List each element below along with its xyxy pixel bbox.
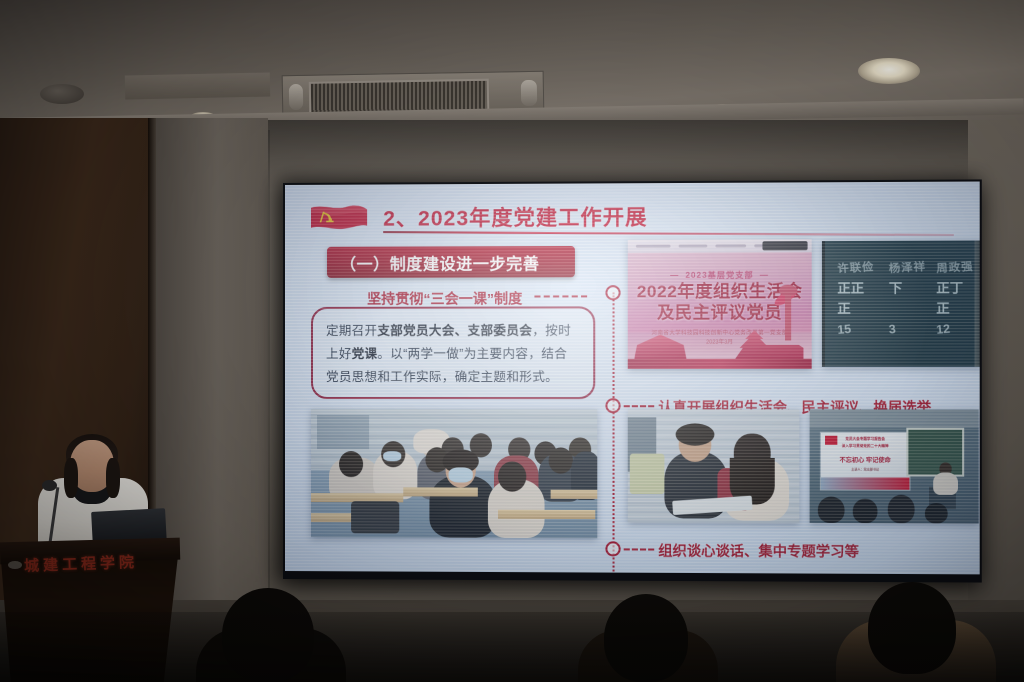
timeline-dash-3 <box>624 548 655 550</box>
presentation-slide: 2、2023年度党建工作开展 （一）制度建设进一步完善 坚持贯彻“三会一课”制度… <box>285 182 980 575</box>
poster-bar-item <box>715 244 746 247</box>
blackboard-tally: 正丁 <box>936 277 963 296</box>
body-text-bold: 党课 <box>352 347 378 361</box>
blackboard-tally: 正 <box>837 298 850 317</box>
blackboard-tally: 正正 <box>837 277 864 296</box>
timeline-node-3 <box>605 541 620 556</box>
lecture-screen-headline: 不忘初心 牢记使命 <box>821 455 910 464</box>
presenter-hair-side-right <box>106 458 120 498</box>
classroom-students-photo <box>311 409 597 538</box>
podium-badge <box>8 561 22 569</box>
ceiling-speaker-icon <box>40 84 84 104</box>
timeline-dotted-line <box>613 292 615 574</box>
lecture-greenboard <box>906 428 964 477</box>
classroom-desk <box>403 487 478 496</box>
classroom-chair <box>351 501 399 533</box>
body-text: 员思想和工作实际，确定主题和形式。 <box>339 370 558 384</box>
lecture-screen-footer: 主讲人：党支部书记 <box>821 467 910 471</box>
timeline-dash-2 <box>624 405 655 407</box>
body-text-bold: 支部党员大会、支部委员会 <box>377 324 532 338</box>
classroom-desk <box>498 510 595 519</box>
poster-tower <box>785 286 791 341</box>
poster-bar-item <box>636 245 671 248</box>
wall-seam <box>268 130 270 600</box>
poster-bar-item <box>679 245 708 248</box>
lecture-hall-photo: 党员大会专题学习报告会 深入学习贯彻党的二十大精神 不忘初心 牢记使命 主讲人：… <box>810 409 979 523</box>
body-text: 定期召开 <box>326 324 377 338</box>
meeting-person-hair <box>676 423 715 445</box>
blackboard-count: 12 <box>936 321 951 336</box>
blackboard-header: 周政强 <box>936 258 974 276</box>
lecture-screen-line2: 深入学习贯彻党的二十大精神 <box>821 444 910 449</box>
downlight-icon <box>455 110 481 120</box>
lecture-audience-head <box>925 503 948 523</box>
meeting-papers <box>630 454 665 494</box>
student-head-front <box>498 461 526 491</box>
lecture-projection-screen: 党员大会专题学习报告会 深入学习贯彻党的二十大精神 不忘初心 牢记使命 主讲人：… <box>820 432 911 491</box>
student-head <box>549 447 573 473</box>
lecture-speaker-body <box>933 472 958 494</box>
downlight-icon <box>858 58 920 84</box>
one-on-one-talk-photo <box>628 409 800 523</box>
poster-bar-chip <box>762 241 807 250</box>
ceiling <box>0 0 1024 128</box>
slide-title: 2、2023年度党建工作开展 <box>383 201 647 232</box>
face-mask-icon <box>449 467 473 482</box>
face-mask-icon <box>383 451 401 461</box>
poster-browser-bar <box>628 239 812 253</box>
audience-head <box>222 588 314 682</box>
blackboard-tally: 正 <box>936 298 949 317</box>
slide-subtitle-text: （一）制度建设进一步完善 <box>340 250 539 275</box>
timeline-node-2 <box>605 398 620 413</box>
audience-head <box>868 582 956 674</box>
blackboard-count: 15 <box>837 322 852 337</box>
podium-sign-text: 城建工程学院 <box>24 551 139 576</box>
title-rule <box>383 231 954 236</box>
ac-vent-slot-right <box>521 80 537 106</box>
projection-screen-frame: 2、2023年度党建工作开展 （一）制度建设进一步完善 坚持贯彻“三会一课”制度… <box>283 179 982 582</box>
ac-vent-grille <box>309 79 490 116</box>
classroom-window <box>317 415 369 449</box>
blackboard-rail <box>975 241 980 367</box>
organizational-life-meeting-poster: 2023基层党支部 2022年度组织生活会 及民主评议党员 河南省大学科技园科技… <box>628 239 812 369</box>
ceiling-access-panel <box>125 72 270 99</box>
body-text: 好 <box>339 347 352 361</box>
screenshot-root: 2、2023年度党建工作开展 （一）制度建设进一步完善 坚持贯彻“三会一课”制度… <box>0 0 1024 682</box>
lecture-audience-head <box>853 499 878 523</box>
lecture-screen-line1: 党员大会专题学习报告会 <box>821 437 910 442</box>
cpc-party-flag-icon <box>309 202 369 236</box>
timeline-caption-3: 组织谈心谈话、集中专题学习等 <box>658 541 859 562</box>
blackboard-count: 3 <box>888 322 896 337</box>
lecture-audience-head <box>818 497 845 523</box>
poster-eyebrow: 2023基层党支部 <box>628 270 812 282</box>
slide-subtitle-banner: （一）制度建设进一步完善 <box>327 246 575 278</box>
presenter-hair-side-left <box>64 458 78 498</box>
blackboard-tally: 下 <box>889 277 902 296</box>
timeline-node-1 <box>605 285 620 300</box>
lecture-ceiling <box>810 409 979 427</box>
ac-vent-icon <box>282 71 545 120</box>
vote-tally-blackboard: 许联俭 杨泽祥 周政强 正正 下 正丁 正 正 15 3 12 <box>822 241 980 367</box>
classroom-desk <box>551 490 598 499</box>
blackboard-header: 许联俭 <box>837 258 875 276</box>
conference-room: 2、2023年度党建工作开展 （一）制度建设进一步完善 坚持贯彻“三会一课”制度… <box>0 0 1024 682</box>
ac-vent-slot-left <box>289 84 303 110</box>
audience-head <box>604 594 688 682</box>
body-line-1: 定期召开支部党员大会、支部委员会，按时上好党课。以“两学一做”为主要内容，结合党… <box>326 320 580 390</box>
slide-body-textbox: 定期召开支部党员大会、支部委员会，按时上好党课。以“两学一做”为主要内容，结合党… <box>311 306 595 399</box>
blackboard-header: 杨泽祥 <box>888 258 926 276</box>
microphone-icon <box>42 480 57 491</box>
lead-dash-connector <box>534 295 587 297</box>
lecture-audience-head <box>888 495 915 524</box>
student-head <box>339 451 363 477</box>
projection-screen: 2、2023年度党建工作开展 （一）制度建设进一步完善 坚持贯彻“三会一课”制度… <box>285 182 980 575</box>
poster-base-bar <box>628 359 812 369</box>
lecture-screen-base <box>821 477 910 489</box>
downlight-icon <box>710 104 736 114</box>
